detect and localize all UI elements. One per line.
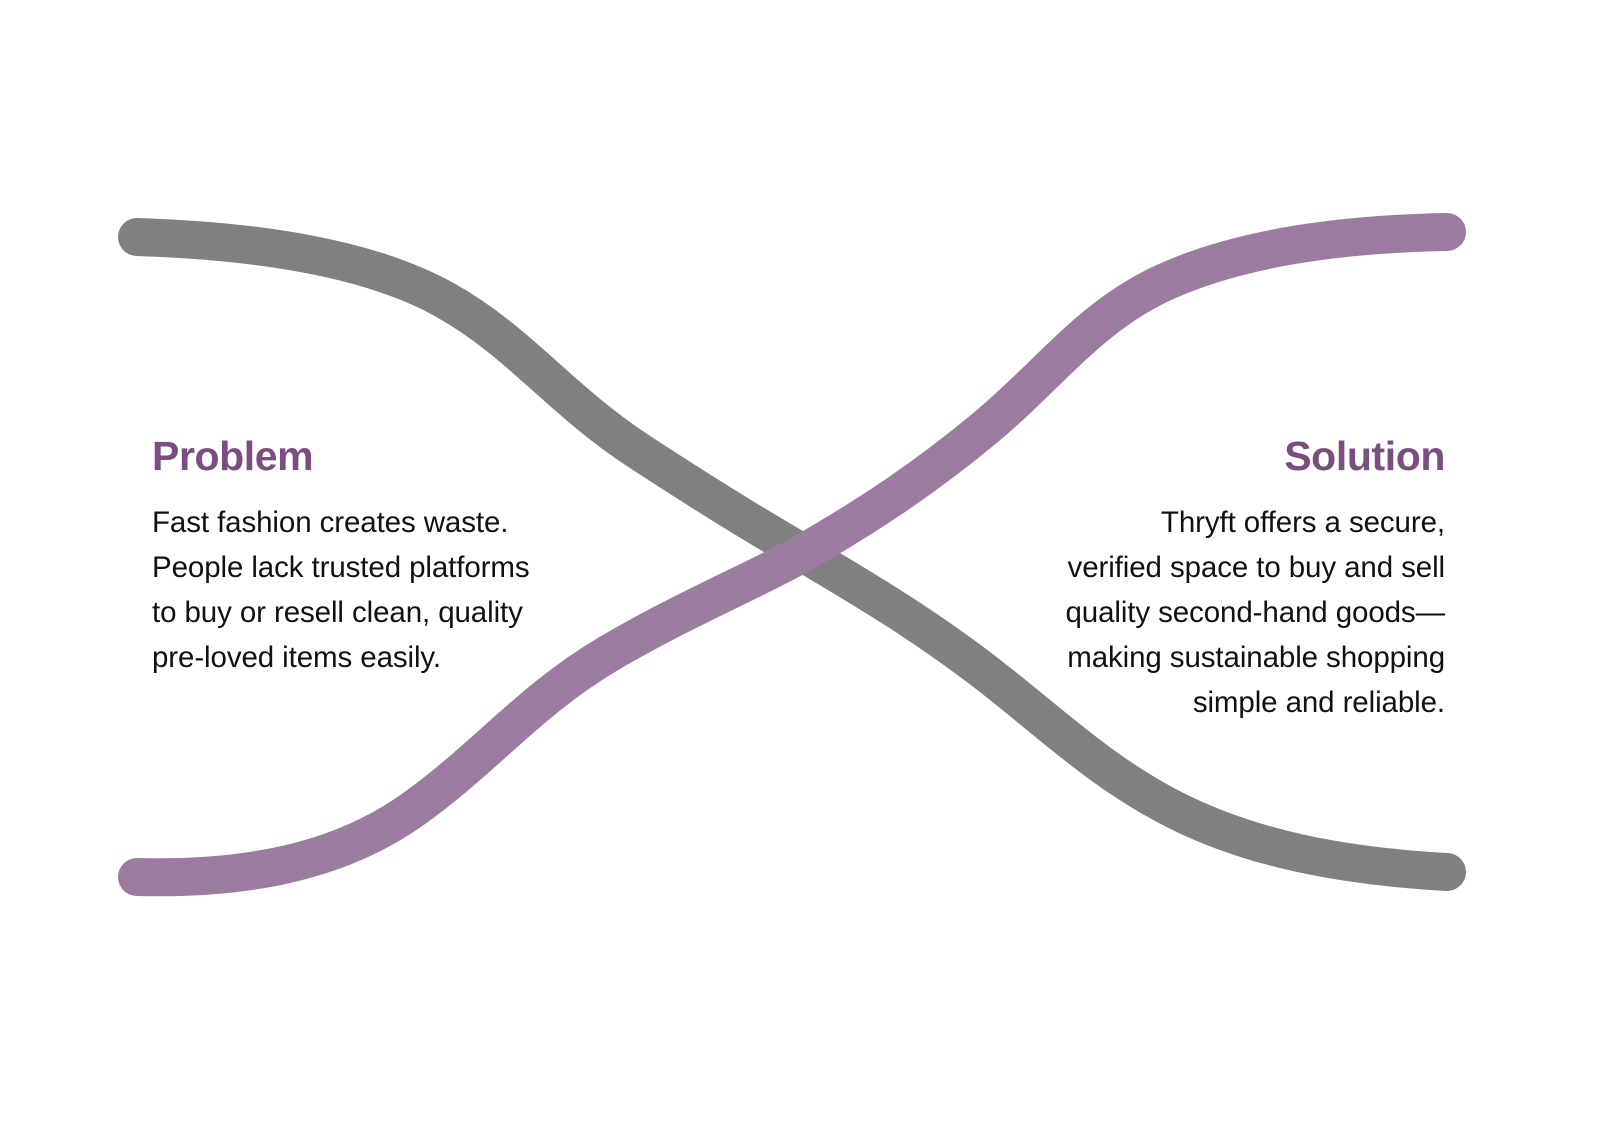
solution-body-line: simple and reliable.: [955, 680, 1445, 725]
solution-heading: Solution: [955, 432, 1445, 480]
problem-body-line: to buy or resell clean, quality: [152, 590, 604, 635]
problem-heading: Problem: [152, 432, 604, 480]
solution-body-line: making sustainable shopping: [955, 635, 1445, 680]
problem-body: Fast fashion creates waste. People lack …: [152, 480, 604, 680]
problem-body-line: People lack trusted platforms: [152, 545, 604, 590]
solution-body-line: verified space to buy and sell: [955, 545, 1445, 590]
solution-panel: Solution Thryft offers a secure, verifie…: [955, 432, 1445, 725]
problem-body-line: Fast fashion creates waste.: [152, 500, 604, 545]
problem-body-line: pre-loved items easily.: [152, 635, 604, 680]
solution-body-line: quality second-hand goods—: [955, 590, 1445, 635]
solution-body-line: Thryft offers a secure,: [955, 500, 1445, 545]
slide-canvas: Problem Fast fashion creates waste. Peop…: [0, 0, 1600, 1123]
solution-body: Thryft offers a secure, verified space t…: [955, 480, 1445, 725]
problem-panel: Problem Fast fashion creates waste. Peop…: [152, 432, 604, 680]
